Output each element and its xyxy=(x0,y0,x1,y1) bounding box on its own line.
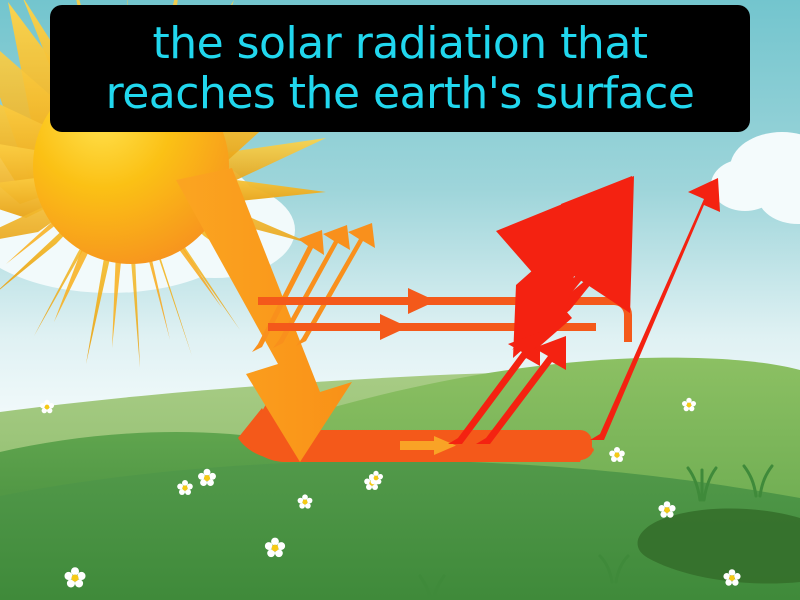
caption-line-1: the solar radiation that xyxy=(152,19,647,68)
caption-line-2: reaches the earth's surface xyxy=(106,69,695,118)
greenhouse-effect-diagram: the solar radiation that reaches the ear… xyxy=(0,0,800,600)
caption-banner: the solar radiation that reaches the ear… xyxy=(50,5,750,132)
